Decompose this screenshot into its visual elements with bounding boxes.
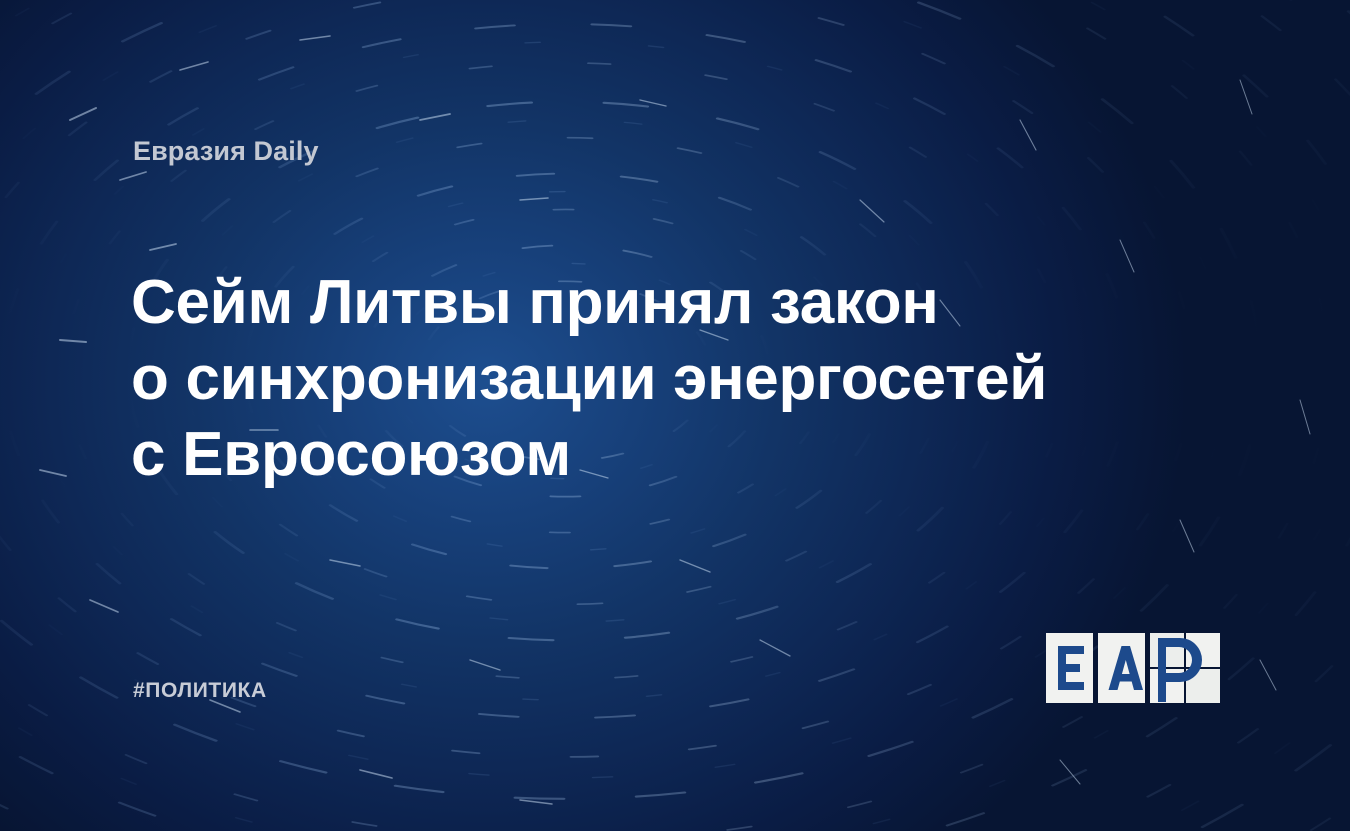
category-tag[interactable]: #ПОЛИТИКА [133, 679, 267, 703]
headline-line-2: о синхронизации энергосетей [131, 341, 1011, 417]
headline: Сейм Литвы принял закон о синхронизации … [131, 265, 1011, 493]
site-name: Евразия Daily [133, 136, 319, 167]
headline-line-3: с Евросоюзом [131, 417, 1011, 493]
headline-line-1: Сейм Литвы принял закон [131, 265, 1011, 341]
news-share-card: Евразия Daily Сейм Литвы принял закон о … [0, 0, 1350, 831]
ead-logo[interactable] [1046, 624, 1220, 712]
